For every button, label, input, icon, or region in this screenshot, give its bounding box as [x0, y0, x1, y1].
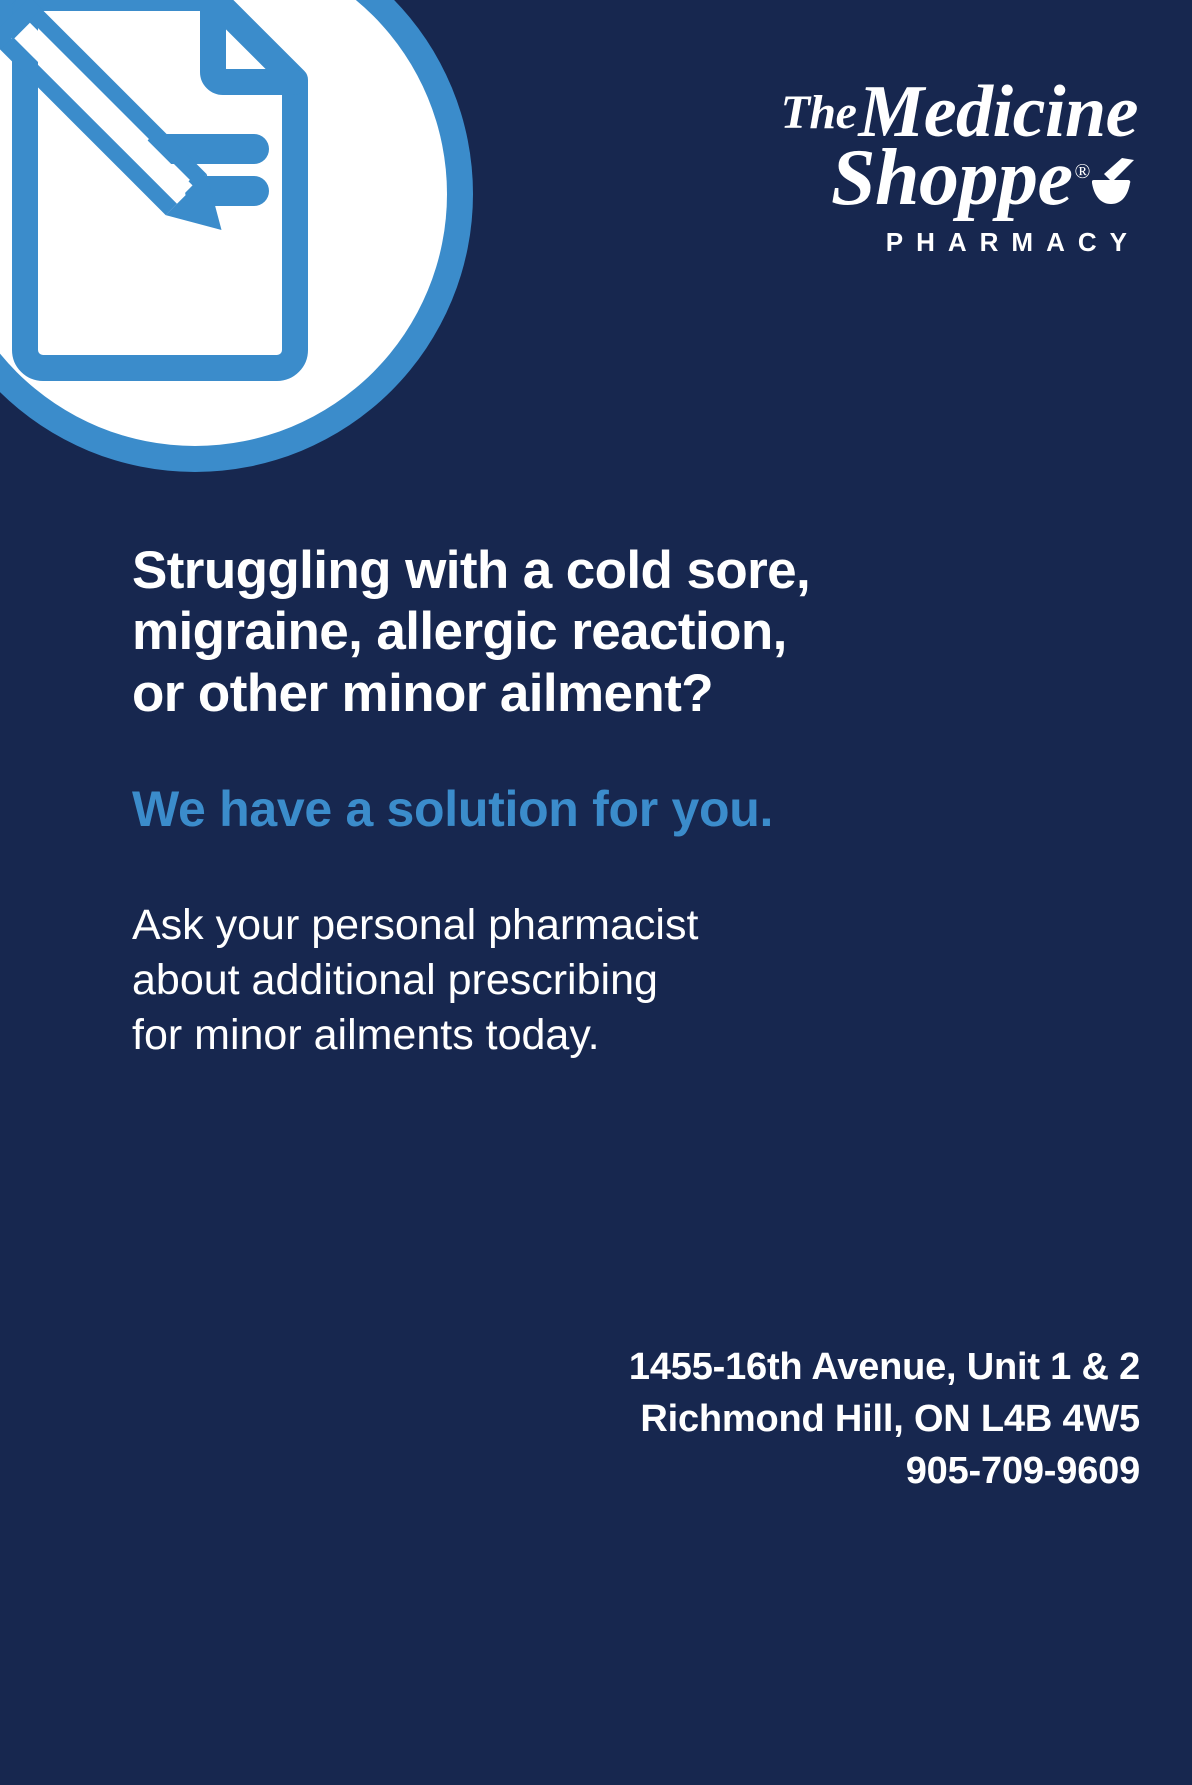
body-line-2: about additional prescribing	[132, 953, 932, 1008]
headline: Struggling with a cold sore, migraine, a…	[132, 540, 972, 724]
brand-line2-wrapper: Shoppe®	[740, 140, 1140, 220]
brand-subtitle: PHARMACY	[740, 227, 1140, 258]
body-copy: Ask your personal pharmacist about addit…	[132, 898, 932, 1063]
address-city: Richmond Hill, ON L4B 4W5	[629, 1393, 1140, 1445]
headline-line-1: Struggling with a cold sore,	[132, 540, 972, 601]
mortar-and-pestle-icon	[1092, 144, 1138, 220]
phone-number[interactable]: 905-709-9609	[629, 1445, 1140, 1497]
subheadline: We have a solution for you.	[132, 782, 992, 837]
brand-logo: TheMedicine Shoppe® PHARMACY	[740, 78, 1140, 258]
body-line-1: Ask your personal pharmacist	[132, 898, 932, 953]
badge-circle	[0, 0, 473, 472]
poster-canvas: TheMedicine Shoppe® PHARMACY Struggling …	[0, 0, 1192, 1785]
headline-line-3: or other minor ailment?	[132, 663, 972, 724]
headline-line-2: migraine, allergic reaction,	[132, 601, 972, 662]
address-street: 1455-16th Avenue, Unit 1 & 2	[629, 1341, 1140, 1393]
document-with-pencil-icon	[0, 0, 389, 396]
body-line-3: for minor ailments today.	[132, 1008, 932, 1063]
store-address-block: 1455-16th Avenue, Unit 1 & 2 Richmond Hi…	[629, 1341, 1140, 1497]
registered-trademark-icon: ®	[1073, 159, 1090, 183]
brand-shoppe: Shoppe	[831, 134, 1073, 222]
brand-the: The	[781, 86, 859, 139]
